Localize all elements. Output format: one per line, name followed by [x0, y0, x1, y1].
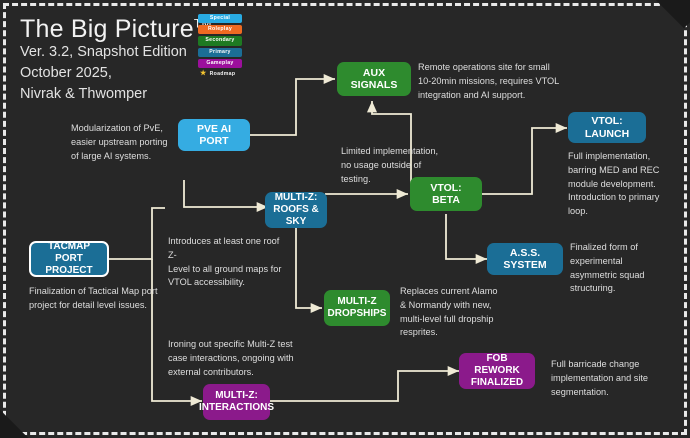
wire-beta-to-launch [482, 128, 567, 194]
node-pve-ai-port[interactable]: PVE AI PORT [178, 119, 250, 151]
page-title-text: The Big Picture [20, 15, 194, 43]
wire-roofs-to-dropships [296, 224, 322, 308]
node-multi-z-interactions[interactable]: MULTI-Z: INTERACTIONS [203, 384, 270, 420]
legend-item-roleplay[interactable]: Roleplay [198, 25, 242, 34]
page-title: The Big PictureTM [20, 16, 212, 42]
subtitle-authors: Nivrak & Thwomper [20, 84, 212, 105]
wire-tacmap-trunk [108, 208, 165, 259]
note-ass-system: Finalized form of experimental asymmetri… [570, 241, 682, 296]
header-block: The Big PictureTM Ver. 3.2, Snapshot Edi… [20, 16, 212, 105]
legend-item-roadmap[interactable]: ★ Roadmap [198, 70, 235, 77]
node-fob-rework-finalized[interactable]: FOB REWORK FINALIZED [459, 353, 535, 389]
note-multi-z-dropships: Replaces current Alamo & Normandy with n… [400, 285, 520, 340]
node-ass-system[interactable]: A.S.S. SYSTEM [487, 243, 563, 275]
wire-pve-to-aux [249, 79, 335, 135]
note-vtol-launch: Full implementation, barring MED and REC… [568, 150, 683, 219]
node-vtol-beta[interactable]: VTOL: BETA [410, 177, 482, 211]
node-aux-signals[interactable]: AUX SIGNALS [337, 62, 411, 96]
roadmap-diagram-canvas: The Big PictureTM Ver. 3.2, Snapshot Edi… [0, 0, 690, 438]
node-multi-z-roofs-sky[interactable]: MULTI-Z: ROOFS & SKY [265, 192, 327, 228]
legend-item-special[interactable]: Special [198, 14, 242, 23]
legend-item-primary[interactable]: Primary [198, 48, 242, 57]
node-multi-z-dropships[interactable]: MULTI-Z DROPSHIPS [324, 290, 390, 326]
note-tacmap-port: Finalization of Tactical Map port projec… [29, 285, 159, 313]
note-multi-z-interactions: Ironing out specific Multi-Z test case i… [168, 338, 308, 379]
legend-item-gameplay[interactable]: Gameplay [198, 59, 242, 68]
subtitle-version: Ver. 3.2, Snapshot Edition [20, 42, 212, 63]
legend-item-secondary[interactable]: Secondary [198, 36, 242, 45]
note-aux-signals: Remote operations site for small 10-20mi… [418, 61, 578, 102]
legend: Special Roleplay Secondary Primary Gamep… [198, 14, 242, 77]
wire-tacmap-to-roofs [184, 180, 268, 207]
note-pve-ai-port: Modularization of PvE, easier upstream p… [71, 122, 176, 163]
note-multi-z-roofs-sky: Introduces at least one roof Z- Level to… [168, 235, 288, 290]
note-fob-rework: Full barricade change implementation and… [551, 358, 671, 399]
node-vtol-launch[interactable]: VTOL: LAUNCH [568, 112, 646, 143]
wire-beta-to-ass [446, 214, 487, 259]
legend-roadmap-label: Roadmap [210, 71, 236, 77]
subtitle-date: October 2025, [20, 63, 212, 84]
node-tacmap-port-project[interactable]: TACMAP PORT PROJECT [29, 241, 109, 277]
star-icon: ★ [200, 70, 207, 77]
